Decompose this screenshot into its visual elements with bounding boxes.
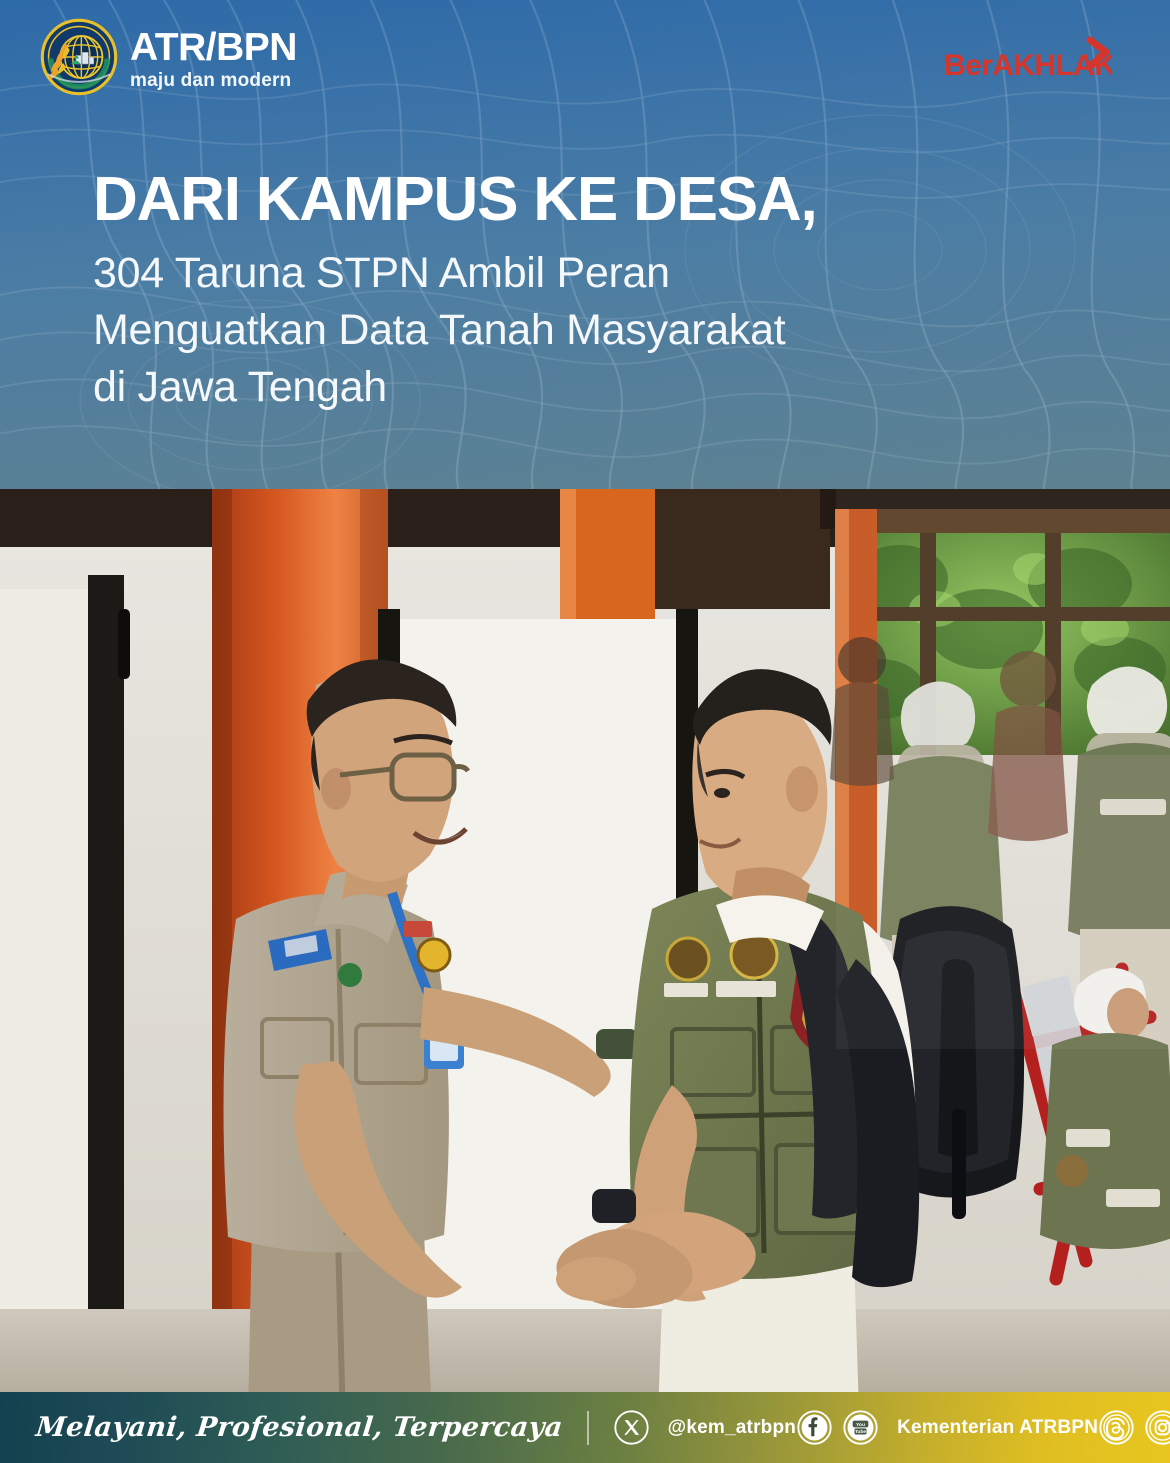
berakhlak-logo: BerAKHLAK <box>942 36 1112 92</box>
subtitle-line-1: 304 Taruna STPN Ambil Peran <box>93 245 993 302</box>
berakhlak-wordmark: BerAKHLAK <box>944 49 1112 82</box>
social-group-fb-yt[interactable]: You Tube Kementerian ATRBPN <box>796 1409 1098 1446</box>
footer-tagline: Melayani, Profesional, Terpercaya <box>34 1412 564 1443</box>
svg-text:You: You <box>856 1422 865 1428</box>
instagram-icon[interactable] <box>1144 1409 1170 1446</box>
page-title: DARI KAMPUS KE DESA, <box>93 168 993 231</box>
social-group-meta-tiktok[interactable]: @kementerian.atrbpn <box>1098 1409 1170 1446</box>
brand-lockup: ATR/BPN maju dan modern <box>40 18 297 96</box>
brand-tagline: maju dan modern <box>130 71 297 90</box>
feature-photo <box>0 489 1170 1392</box>
social-group-x[interactable]: @kem_atrbpn <box>613 1409 796 1446</box>
x-handle[interactable]: @kem_atrbpn <box>668 1417 796 1439</box>
threads-icon[interactable] <box>1098 1409 1135 1446</box>
headline-block: DARI KAMPUS KE DESA, 304 Taruna STPN Amb… <box>93 168 993 415</box>
svg-text:Tube: Tube <box>855 1429 866 1435</box>
youtube-icon[interactable]: You Tube <box>842 1409 879 1446</box>
atrbpn-emblem-icon <box>40 18 118 96</box>
header-banner: ATR/BPN maju dan modern BerAKHLAK DARI K… <box>0 0 1170 489</box>
subtitle-line-2: Menguatkan Data Tanah Masyarakat <box>93 302 993 359</box>
facebook-icon[interactable] <box>796 1409 833 1446</box>
x-twitter-icon[interactable] <box>613 1409 650 1446</box>
brand-name: ATR/BPN <box>130 28 297 67</box>
footer-bar: Melayani, Profesional, Terpercaya @kem_a… <box>0 1392 1170 1463</box>
footer-divider <box>587 1411 589 1445</box>
fb-yt-handle[interactable]: Kementerian ATRBPN <box>897 1417 1098 1439</box>
poster-canvas: ATR/BPN maju dan modern BerAKHLAK DARI K… <box>0 0 1170 1463</box>
page-subtitle: 304 Taruna STPN Ambil Peran Menguatkan D… <box>93 245 993 415</box>
subtitle-line-3: di Jawa Tengah <box>93 359 993 416</box>
